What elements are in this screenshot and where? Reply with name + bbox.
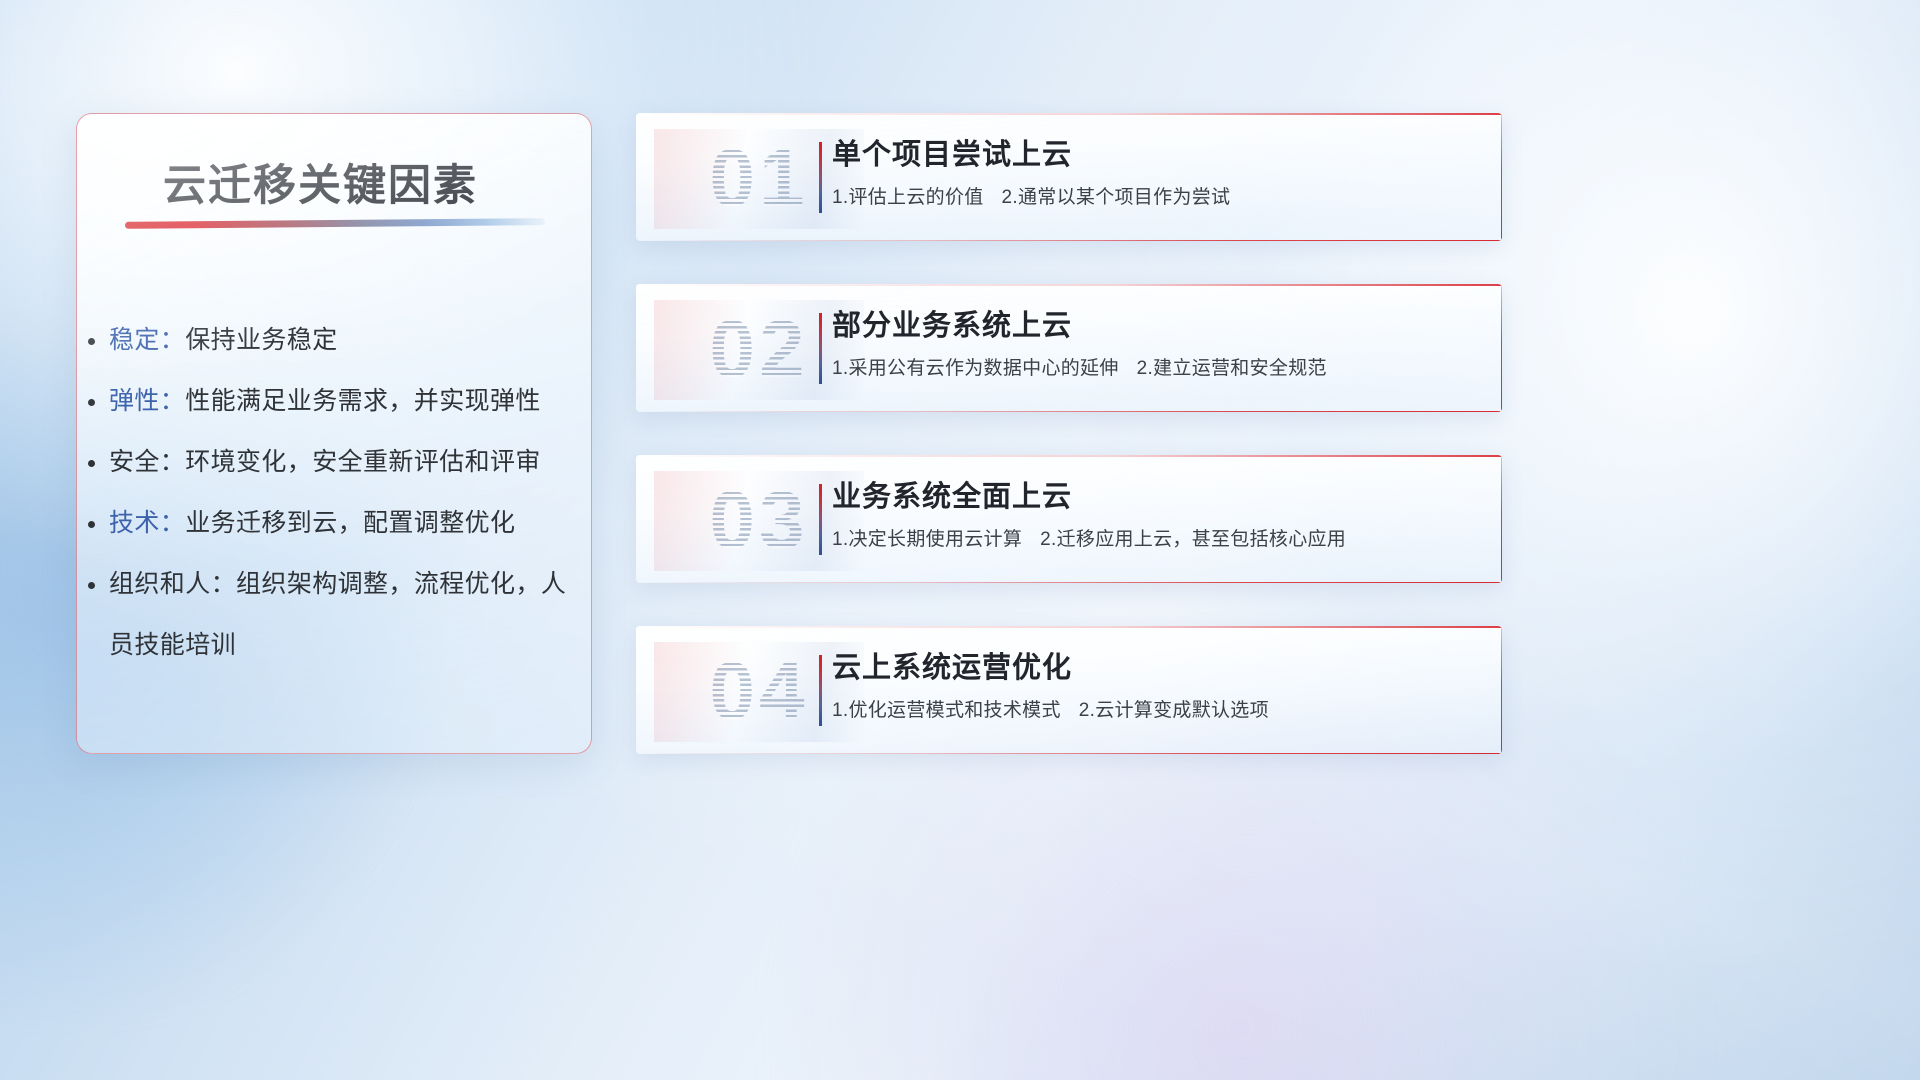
- list-item: 组织和人：组织架构调整，流程优化，人员技能培训: [109, 554, 573, 676]
- list-item-label: 弹性：: [109, 387, 185, 415]
- stage-description-part-1: 1.采用公有云作为数据中心的延伸: [832, 358, 1119, 379]
- stage-description: 1.决定长期使用云计算2.迁移应用上云，甚至包括核心应用: [832, 526, 1480, 554]
- stage-description-part-1: 1.决定长期使用云计算: [832, 529, 1022, 550]
- title-underline-gradient: [125, 218, 545, 229]
- stage-description: 1.评估上云的价值2.通常以某个项目作为尝试: [832, 184, 1480, 212]
- stage-description-part-1: 1.优化运营模式和技术模式: [832, 700, 1061, 721]
- card-top-edge: [636, 455, 1502, 457]
- stage-description-part-2: 2.通常以某个项目作为尝试: [1002, 187, 1231, 208]
- stage-description-part-1: 1.评估上云的价值: [832, 187, 984, 208]
- key-factors-list: 稳定：保持业务稳定 弹性：性能满足业务需求，并实现弹性 安全：环境变化，安全重新…: [109, 310, 573, 676]
- card-top-edge: [636, 284, 1502, 286]
- stage-description: 1.优化运营模式和技术模式2.云计算变成默认选项: [832, 697, 1480, 725]
- stage-card[interactable]: 04 云上系统运营优化 1.优化运营模式和技术模式2.云计算变成默认选项: [636, 626, 1502, 754]
- stage-accent-bar: [819, 142, 822, 213]
- stage-content: 业务系统全面上云 1.决定长期使用云计算2.迁移应用上云，甚至包括核心应用: [832, 477, 1480, 554]
- list-item-text: 性能满足业务需求，并实现弹性: [185, 387, 541, 415]
- stage-card[interactable]: 03 业务系统全面上云 1.决定长期使用云计算2.迁移应用上云，甚至包括核心应用: [636, 455, 1502, 583]
- list-item-text: 业务迁移到云，配置调整优化: [185, 509, 515, 537]
- page-title: 云迁移关键因素: [163, 151, 478, 213]
- migration-stages-list: 01 单个项目尝试上云 1.评估上云的价值2.通常以某个项目作为尝试 02 部分…: [636, 113, 1502, 797]
- key-factors-panel: 云迁移关键因素 稳定：保持业务稳定 弹性：性能满足业务需求，并实现弹性 安全：环…: [76, 113, 592, 754]
- stage-title: 业务系统全面上云: [832, 477, 1480, 517]
- stage-accent-bar: [819, 313, 822, 384]
- stage-card[interactable]: 02 部分业务系统上云 1.采用公有云作为数据中心的延伸2.建立运营和安全规范: [636, 284, 1502, 412]
- stage-description-part-2: 2.建立运营和安全规范: [1137, 358, 1327, 379]
- list-item-label: 稳定：: [109, 326, 185, 354]
- card-top-edge: [636, 113, 1502, 115]
- list-item-label: 组织和人：: [109, 570, 236, 598]
- stage-accent-bar: [819, 655, 822, 726]
- list-item-text: 环境变化，安全重新评估和评审: [185, 448, 541, 476]
- stage-content: 云上系统运营优化 1.优化运营模式和技术模式2.云计算变成默认选项: [832, 648, 1480, 725]
- stage-title: 单个项目尝试上云: [832, 135, 1480, 175]
- list-item: 稳定：保持业务稳定: [109, 310, 573, 371]
- stage-description-part-2: 2.云计算变成默认选项: [1079, 700, 1269, 721]
- stage-title: 云上系统运营优化: [832, 648, 1480, 688]
- stage-card[interactable]: 01 单个项目尝试上云 1.评估上云的价值2.通常以某个项目作为尝试: [636, 113, 1502, 241]
- list-item-text: 保持业务稳定: [185, 326, 337, 354]
- stage-accent-bar: [819, 484, 822, 555]
- list-item-label: 安全：: [109, 448, 185, 476]
- list-item-label: 技术：: [109, 509, 185, 537]
- stage-content: 部分业务系统上云 1.采用公有云作为数据中心的延伸2.建立运营和安全规范: [832, 306, 1480, 383]
- list-item: 技术：业务迁移到云，配置调整优化: [109, 493, 573, 554]
- stage-content: 单个项目尝试上云 1.评估上云的价值2.通常以某个项目作为尝试: [832, 135, 1480, 212]
- stage-title: 部分业务系统上云: [832, 306, 1480, 346]
- card-top-edge: [636, 626, 1502, 628]
- list-item: 弹性：性能满足业务需求，并实现弹性: [109, 371, 573, 432]
- list-item: 安全：环境变化，安全重新评估和评审: [109, 432, 573, 493]
- slide-canvas: 云迁移关键因素 稳定：保持业务稳定 弹性：性能满足业务需求，并实现弹性 安全：环…: [0, 0, 1920, 1080]
- stage-description: 1.采用公有云作为数据中心的延伸2.建立运营和安全规范: [832, 355, 1480, 383]
- stage-description-part-2: 2.迁移应用上云，甚至包括核心应用: [1040, 529, 1346, 550]
